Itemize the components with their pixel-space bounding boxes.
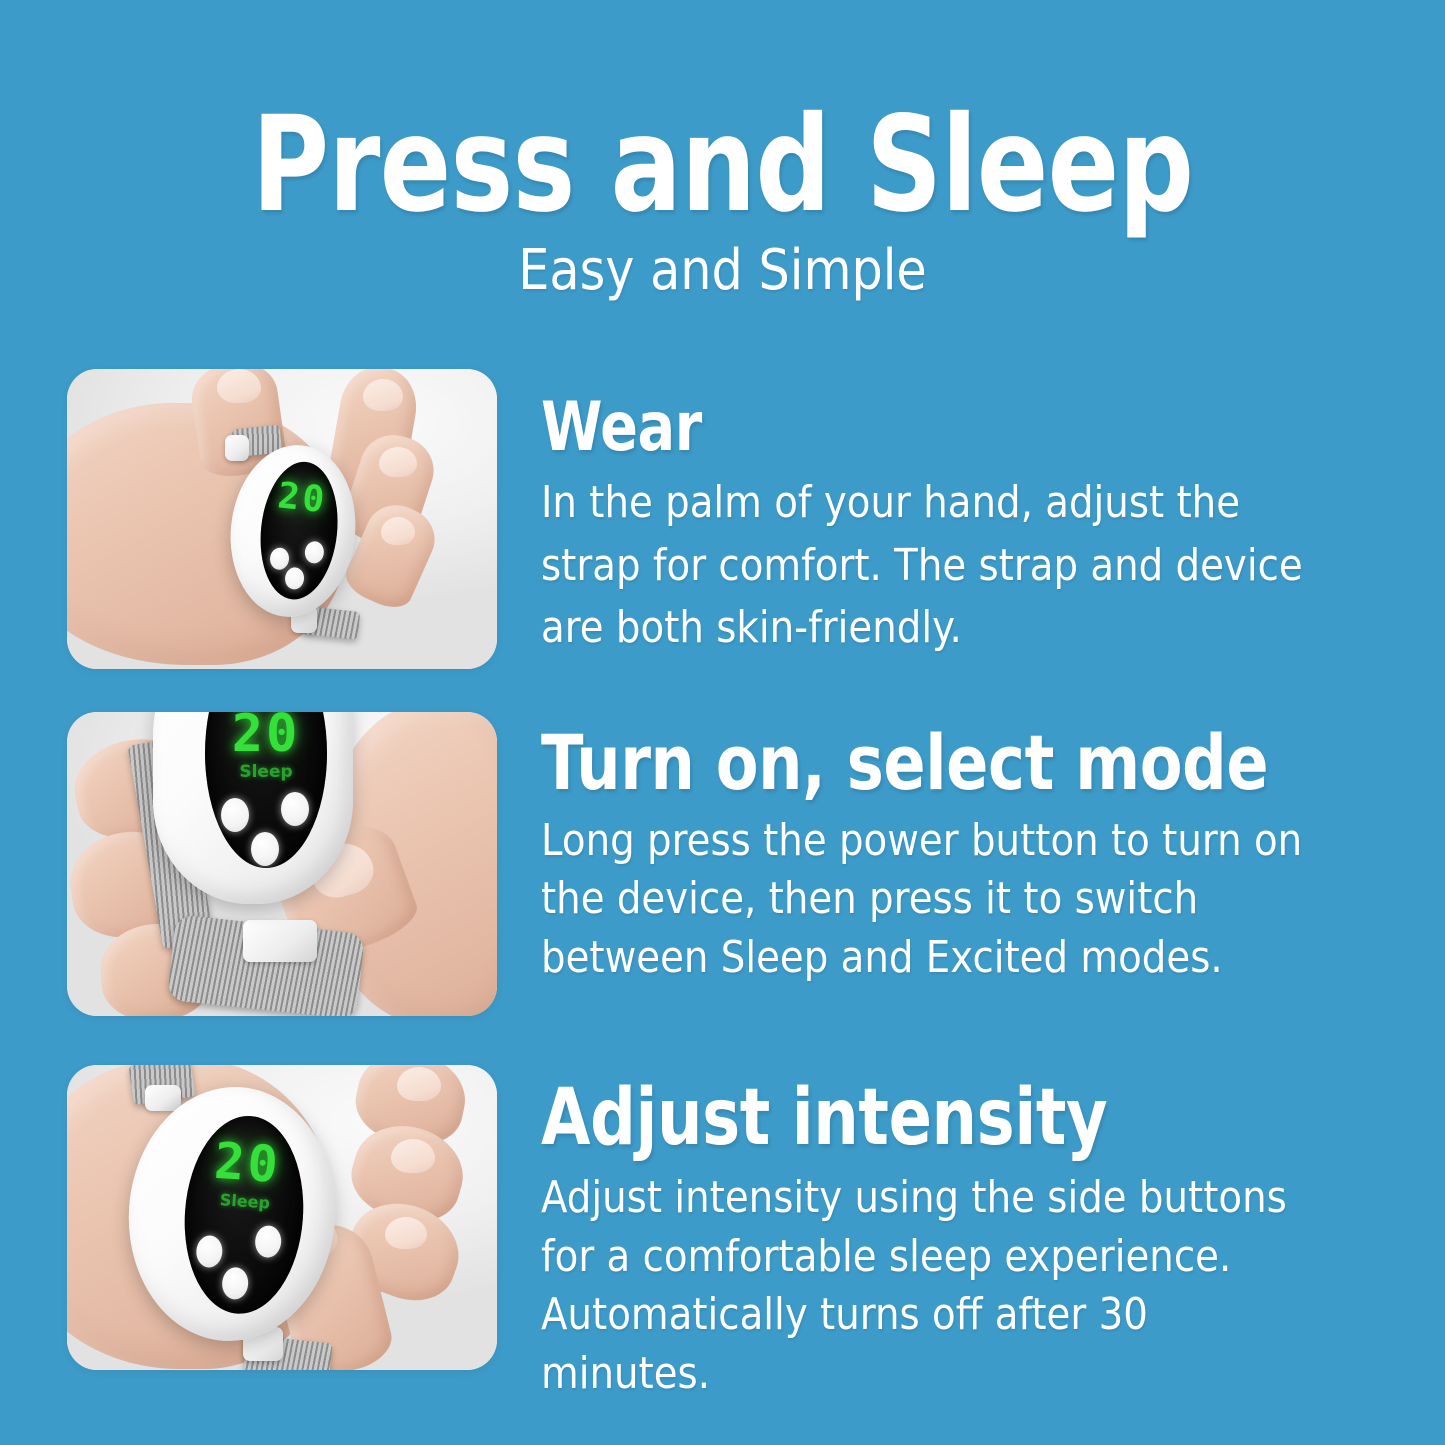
device-led-right [281, 792, 309, 826]
device-led-center [284, 566, 305, 590]
page-title: Press and Sleep [145, 96, 1301, 236]
device-led-right [304, 540, 325, 564]
step-photo-turn-on: 20 Sleep [67, 712, 497, 1016]
device-screen: 20 Sleep [178, 1112, 310, 1318]
photo-background: 20 Sleep [67, 1065, 497, 1370]
step-heading: Adjust intensity [541, 1079, 1256, 1159]
finger-nail-lower [385, 1217, 427, 1249]
finger-nail-mid [391, 1139, 435, 1173]
step-heading: Wear [541, 393, 1256, 462]
device-buckle [243, 920, 317, 962]
infographic-page: Press and Sleep Easy and Simple [0, 0, 1445, 1445]
photo-background: 20 Sleep [67, 712, 497, 1016]
step-text-turn-on: Turn on, select mode Long press the powe… [541, 724, 1413, 988]
step-photo-adjust-intensity: 20 Sleep [67, 1065, 497, 1370]
device-buckle-top [225, 435, 249, 461]
device-buckle-top [145, 1085, 181, 1111]
step-text-adjust-intensity: Adjust intensity Adjust intensity using … [541, 1079, 1413, 1404]
step-description: Adjust intensity using the side buttons … [541, 1169, 1308, 1405]
device-screen: 20 Sleep [205, 712, 327, 868]
thumb-nail [217, 369, 261, 403]
photo-background: 20 [67, 369, 497, 669]
page-header: Press and Sleep Easy and Simple [0, 96, 1445, 301]
device-display-mode: Sleep [205, 762, 327, 782]
ring-nail [381, 517, 415, 545]
device-display-value: 20 [263, 474, 343, 523]
device-display-value: 20 [205, 712, 327, 764]
device-led-left [195, 1235, 223, 1269]
step-text-wear: Wear In the palm of your hand, adjust th… [541, 393, 1413, 660]
device-led-center [251, 832, 279, 866]
device-body: 20 Sleep [153, 712, 353, 904]
step-heading: Turn on, select mode [541, 724, 1256, 802]
index-nail [363, 379, 403, 411]
device-led-left [221, 798, 249, 832]
middle-nail [379, 447, 417, 477]
device-display-value: 20 [187, 1130, 309, 1196]
device-screen: 20 [254, 458, 344, 603]
finger-nail-top [397, 1067, 441, 1101]
step-description: Long press the power button to turn on t… [541, 812, 1308, 989]
device-led-center [221, 1267, 249, 1301]
page-subtitle: Easy and Simple [87, 242, 1359, 301]
device-led-left [269, 547, 290, 571]
device-led-right [254, 1225, 282, 1259]
step-description: In the palm of your hand, adjust the str… [541, 472, 1308, 659]
step-photo-wear: 20 [67, 369, 497, 669]
